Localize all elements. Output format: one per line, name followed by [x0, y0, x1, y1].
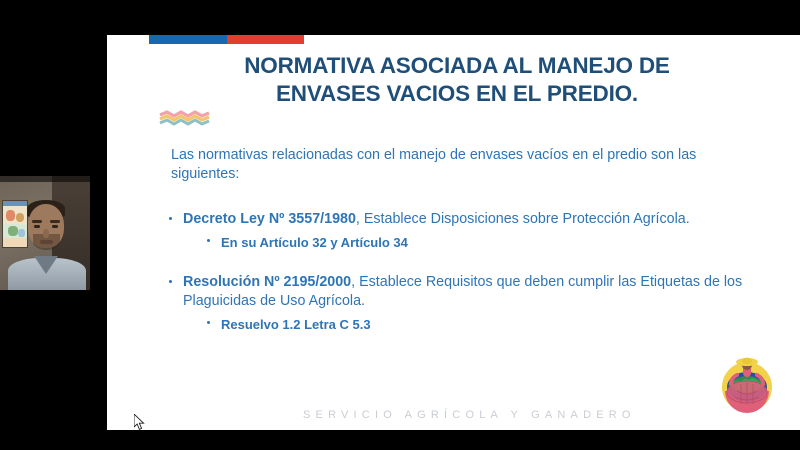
- list-item: Resuelvo 1.2 Letra C 5.3: [183, 315, 765, 334]
- chile-flag-accent-bar: [149, 35, 304, 44]
- bullet-2-sublist: Resuelvo 1.2 Letra C 5.3: [183, 315, 765, 334]
- wall-map-poster: [2, 200, 28, 248]
- bullet-1-sublist: En su Artículo 32 y Artículo 34: [183, 233, 765, 252]
- person-eyebrow-left: [32, 220, 42, 223]
- person-eye-right: [52, 225, 58, 228]
- webcam-top-shadow: [0, 176, 90, 182]
- slide-title-line-1: NORMATIVA ASOCIADA AL MANEJO DE: [147, 52, 767, 80]
- bullet-dot-icon: [169, 217, 172, 220]
- presentation-slide[interactable]: NORMATIVA ASOCIADA AL MANEJO DE ENVASES …: [107, 35, 800, 430]
- slide-title-line-2: ENVASES VACIOS EN EL PREDIO.: [147, 80, 767, 108]
- list-spacer: [165, 257, 765, 273]
- flag-bar-blue: [149, 35, 227, 44]
- screen-share-view: NORMATIVA ASOCIADA AL MANEJO DE ENVASES …: [0, 0, 800, 450]
- bullet-2-title: Resolución Nº 2195/2000: [183, 274, 351, 290]
- person-mouth: [40, 240, 53, 244]
- slide-body: Las normativas relacionadas con el manej…: [165, 146, 765, 339]
- bullet-1-sub-1: En su Artículo 32 y Artículo 34: [221, 235, 408, 250]
- sag-emblem-logo-icon: [715, 351, 779, 415]
- body-intro-text: Las normativas relacionadas con el manej…: [171, 146, 716, 184]
- person-eye-left: [34, 225, 40, 228]
- slide-footer-organization: SERVICIO AGRÍCOLA Y GANADERO: [303, 409, 636, 421]
- decorative-wave-icon: [159, 110, 213, 127]
- list-item: En su Artículo 32 y Artículo 34: [183, 233, 765, 252]
- bullet-1-description: , Establece Disposiciones sobre Protecci…: [356, 211, 690, 227]
- bullet-1-title: Decreto Ley Nº 3557/1980: [183, 211, 356, 227]
- sub-bullet-dot-icon: [207, 239, 210, 242]
- normativa-bullet-list: Decreto Ley Nº 3557/1980, Establece Disp…: [165, 210, 765, 334]
- flag-bar-red: [227, 35, 305, 44]
- person-nose: [43, 229, 49, 238]
- webcam-video-tile[interactable]: [0, 176, 90, 290]
- person-eyebrow-right: [50, 220, 60, 223]
- bullet-2-sub-1: Resuelvo 1.2 Letra C 5.3: [221, 317, 371, 332]
- bullet-dot-icon: [169, 280, 172, 283]
- list-item: Resolución Nº 2195/2000, Establece Requi…: [165, 273, 765, 334]
- sub-bullet-dot-icon: [207, 321, 210, 324]
- slide-title: NORMATIVA ASOCIADA AL MANEJO DE ENVASES …: [147, 52, 767, 108]
- list-item: Decreto Ley Nº 3557/1980, Establece Disp…: [165, 210, 765, 252]
